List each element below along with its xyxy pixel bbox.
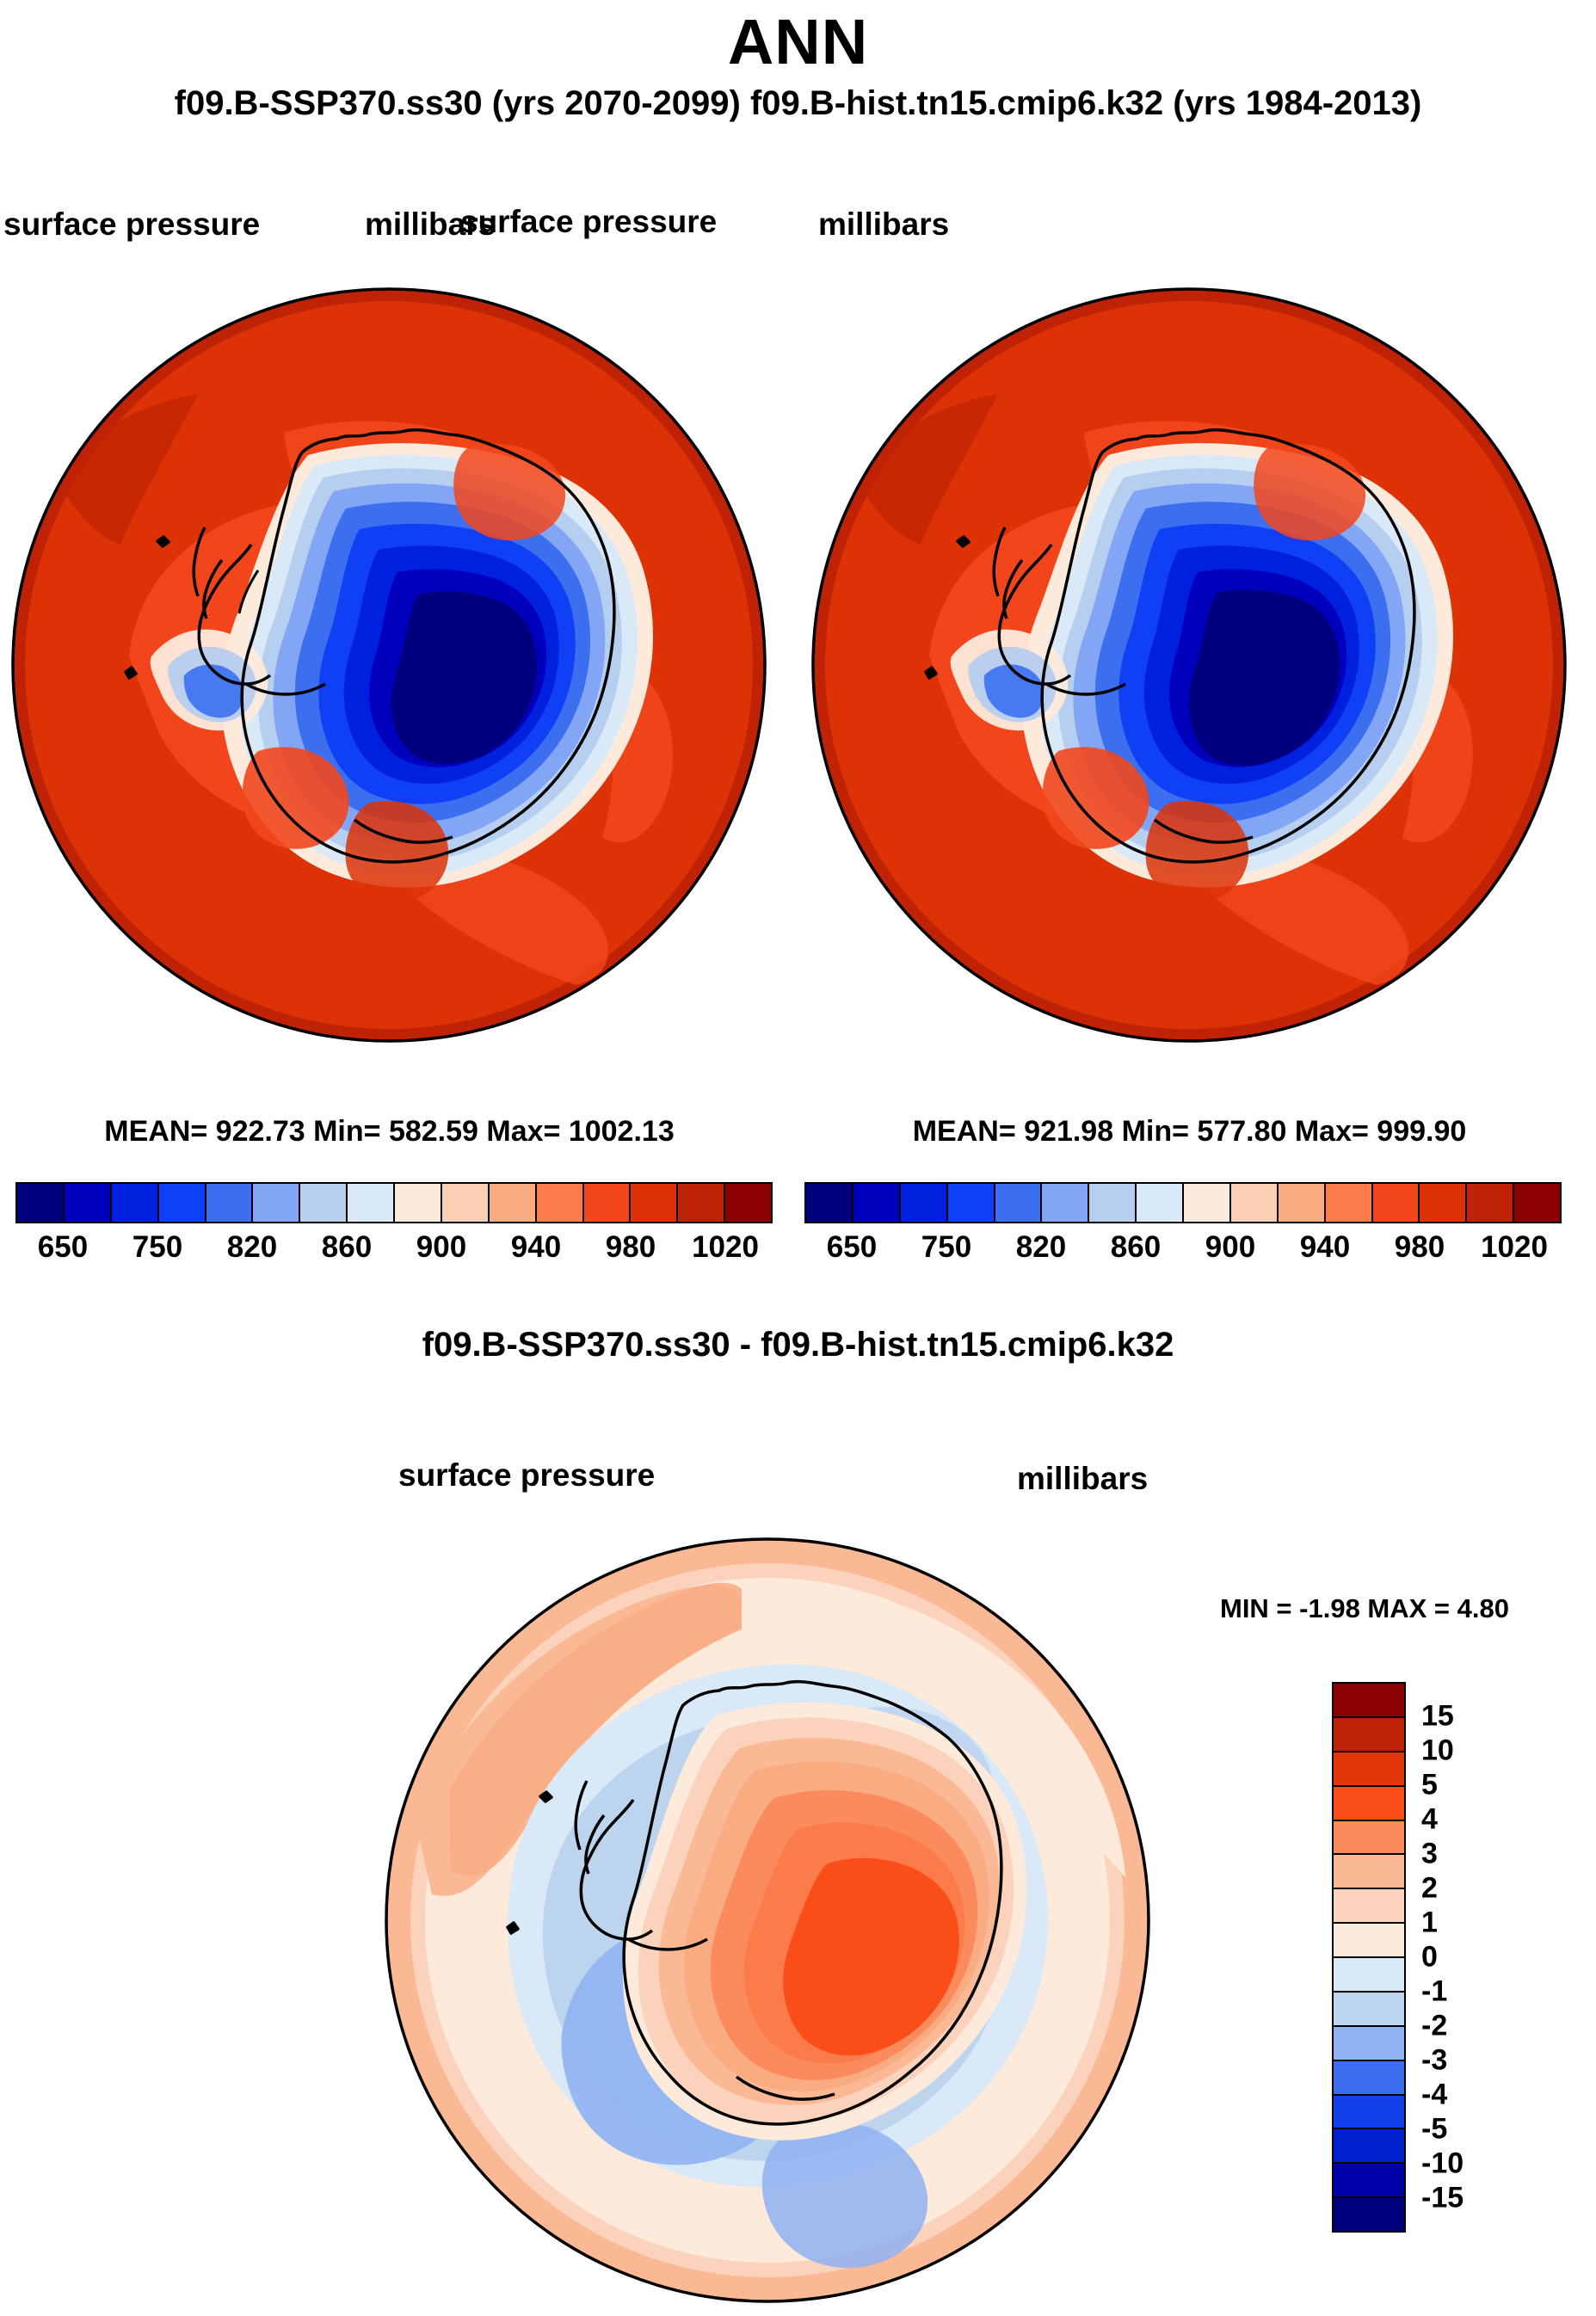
difference-colorbar-cell-12 <box>1334 2096 1404 2130</box>
left-colorbar-tick-1020: 1020 <box>692 1230 759 1265</box>
left-colorbar-cell-4 <box>206 1184 254 1222</box>
right-colorbar-cell-5 <box>1042 1184 1089 1222</box>
left-panel-stats: MEAN= 922.73 Min= 582.59 Max= 1002.13 <box>0 1115 779 1149</box>
difference-colorbar-tick-1: 1 <box>1421 1906 1438 1940</box>
right-colorbar-cell-9 <box>1231 1184 1279 1222</box>
right-colorbar-cell-1 <box>853 1184 901 1222</box>
left-colorbar-cell-3 <box>159 1184 206 1222</box>
difference-colorbar-tick-10: 10 <box>1421 1734 1454 1768</box>
right-panel-stats: MEAN= 921.98 Min= 577.80 Max= 999.90 <box>800 1115 1579 1149</box>
difference-colorbar-cell-0 <box>1334 1684 1404 1718</box>
page-title: ANN <box>0 5 1596 78</box>
right-panel-units-label: millibars <box>818 206 949 243</box>
left-colorbar-cell-2 <box>112 1184 159 1222</box>
left-colorbar-tick-650: 650 <box>38 1230 88 1265</box>
difference-colorbar-cell-7 <box>1334 1924 1404 1958</box>
difference-colorbar-tick-3: 3 <box>1421 1838 1438 1871</box>
difference-colorbar-cell-6 <box>1334 1889 1404 1924</box>
case-subtitle: f09.B-SSP370.ss30 (yrs 2070-2099) f09.B-… <box>0 84 1596 123</box>
difference-panel-title: f09.B-SSP370.ss30 - f09.B-hist.tn15.cmip… <box>0 1326 1596 1364</box>
difference-colorbar-cell-2 <box>1334 1752 1404 1787</box>
difference-colorbar-cell-9 <box>1334 1993 1404 2027</box>
right-colorbar-tick-1020: 1020 <box>1481 1230 1548 1265</box>
left-colorbar-tick-860: 860 <box>322 1230 372 1265</box>
difference-colorbar-cell-8 <box>1334 1958 1404 1993</box>
difference-colorbar-tick-neg10: -10 <box>1421 2147 1464 2181</box>
difference-colorbar-cell-15 <box>1334 2198 1404 2231</box>
difference-colorbar-ticks: 1510543210-1-2-3-4-5-10-15 <box>1421 1682 1542 2233</box>
left-colorbar-cell-7 <box>348 1184 395 1222</box>
difference-colorbar-tick-15: 15 <box>1421 1700 1454 1734</box>
right-colorbar[interactable] <box>804 1182 1562 1223</box>
left-panel-variable-label: surface pressure <box>3 206 260 243</box>
right-colorbar-cell-0 <box>806 1184 853 1222</box>
right-colorbar-cell-13 <box>1420 1184 1467 1222</box>
left-colorbar-tick-900: 900 <box>416 1230 466 1265</box>
left-colorbar-cell-1 <box>65 1184 112 1222</box>
difference-colorbar-cell-5 <box>1334 1855 1404 1889</box>
difference-colorbar-cell-3 <box>1334 1787 1404 1821</box>
difference-colorbar-cell-10 <box>1334 2027 1404 2061</box>
right-colorbar-tick-750: 750 <box>921 1230 971 1265</box>
right-colorbar-tick-980: 980 <box>1395 1230 1445 1265</box>
difference-colorbar-tick-4: 4 <box>1421 1803 1438 1837</box>
left-colorbar[interactable] <box>15 1182 773 1223</box>
right-colorbar-ticks: 6507508208609009409801020 <box>804 1230 1562 1270</box>
left-colorbar-cell-6 <box>300 1184 348 1222</box>
right-colorbar-cell-11 <box>1326 1184 1373 1222</box>
right-colorbar-cell-2 <box>901 1184 948 1222</box>
right-colorbar-tick-650: 650 <box>827 1230 877 1265</box>
diff-min-max-annotation: MIN = -1.98 MAX = 4.80 <box>1220 1593 1509 1624</box>
left-colorbar-cell-15 <box>725 1184 771 1222</box>
difference-colorbar-cell-11 <box>1334 2061 1404 2096</box>
difference-colorbar-tick-neg3: -3 <box>1421 2044 1447 2078</box>
difference-colorbar-cell-4 <box>1334 1821 1404 1856</box>
difference-polar-map[interactable] <box>380 1533 1155 2307</box>
right-colorbar-tick-860: 860 <box>1111 1230 1161 1265</box>
right-colorbar-tick-940: 940 <box>1300 1230 1350 1265</box>
right-colorbar-cell-12 <box>1373 1184 1420 1222</box>
left-polar-map[interactable] <box>0 286 779 1044</box>
right-colorbar-cell-4 <box>995 1184 1043 1222</box>
right-colorbar-tick-900: 900 <box>1205 1230 1255 1265</box>
left-colorbar-cell-8 <box>395 1184 442 1222</box>
left-colorbar-cell-13 <box>631 1184 678 1222</box>
right-colorbar-cell-8 <box>1184 1184 1231 1222</box>
left-colorbar-cell-5 <box>253 1184 300 1222</box>
difference-colorbar[interactable] <box>1332 1682 1406 2233</box>
difference-colorbar-tick-neg15: -15 <box>1421 2182 1464 2215</box>
difference-colorbar-tick-neg1: -1 <box>1421 1975 1447 2009</box>
right-colorbar-cell-6 <box>1089 1184 1137 1222</box>
difference-colorbar-tick-neg2: -2 <box>1421 2010 1447 2043</box>
difference-colorbar-cell-1 <box>1334 1718 1404 1752</box>
left-colorbar-tick-820: 820 <box>227 1230 277 1265</box>
right-colorbar-cell-10 <box>1279 1184 1326 1222</box>
right-colorbar-tick-820: 820 <box>1016 1230 1066 1265</box>
difference-colorbar-tick-5: 5 <box>1421 1769 1438 1802</box>
right-colorbar-cell-3 <box>948 1184 995 1222</box>
right-polar-map[interactable] <box>800 286 1579 1044</box>
left-colorbar-tick-750: 750 <box>132 1230 182 1265</box>
left-colorbar-cell-11 <box>537 1184 584 1222</box>
left-colorbar-cell-0 <box>17 1184 65 1222</box>
left-colorbar-cell-14 <box>678 1184 725 1222</box>
difference-colorbar-cell-13 <box>1334 2129 1404 2164</box>
right-colorbar-cell-7 <box>1137 1184 1184 1222</box>
diff-panel-units-label: millibars <box>1017 1461 1148 1497</box>
difference-colorbar-tick-neg5: -5 <box>1421 2113 1447 2147</box>
left-colorbar-cell-12 <box>584 1184 632 1222</box>
difference-colorbar-tick-neg4: -4 <box>1421 2079 1447 2112</box>
difference-colorbar-tick-2: 2 <box>1421 1872 1438 1906</box>
difference-colorbar-cell-14 <box>1334 2164 1404 2198</box>
left-colorbar-cell-9 <box>442 1184 490 1222</box>
left-colorbar-ticks: 6507508208609009409801020 <box>15 1230 773 1270</box>
difference-colorbar-tick-0: 0 <box>1421 1941 1438 1974</box>
left-colorbar-tick-980: 980 <box>606 1230 656 1265</box>
right-colorbar-cell-15 <box>1514 1184 1560 1222</box>
right-colorbar-cell-14 <box>1467 1184 1514 1222</box>
right-panel-variable-label: surface pressure <box>460 204 717 240</box>
diff-panel-variable-label: surface pressure <box>398 1457 655 1494</box>
left-colorbar-tick-940: 940 <box>511 1230 561 1265</box>
left-colorbar-cell-10 <box>490 1184 537 1222</box>
